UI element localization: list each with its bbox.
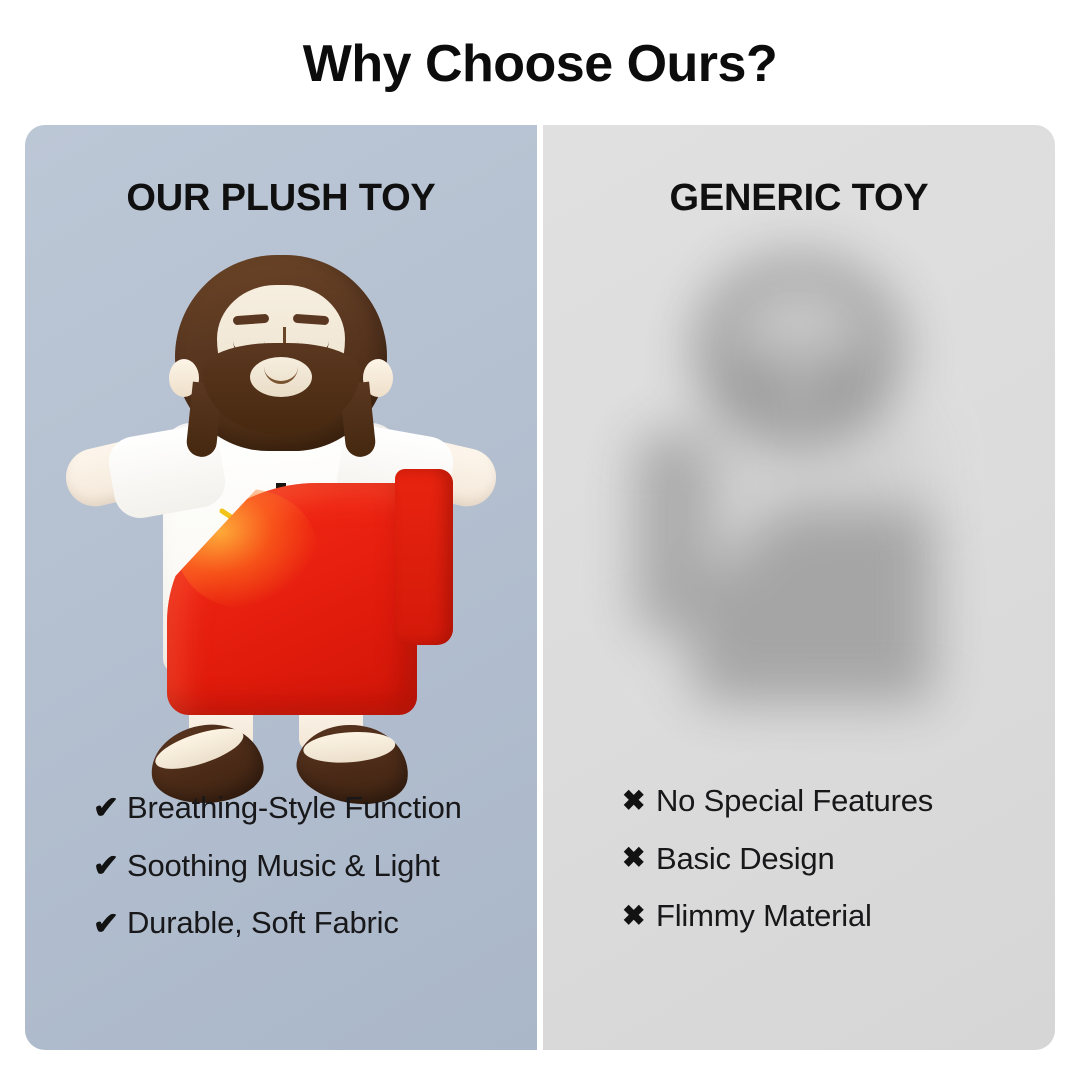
page-title: Why Choose Ours? [0,38,1080,90]
list-item: ✔ Breathing-Style Function [93,790,537,826]
list-item: ✖ No Special Features [622,783,1055,819]
blurred-generic-toy-image [634,255,964,755]
cross-icon: ✖ [622,902,656,930]
check-icon: ✔ [93,850,127,881]
comparison-panels: OUR PLUSH TOY [25,125,1055,1050]
toy-sash-tail [395,469,453,645]
plush-jesus-toy-image [71,255,491,795]
toy-eyebrow-right [293,314,330,325]
toy-smile [264,367,298,384]
feature-label: Soothing Music & Light [127,848,440,884]
blur-mouth [771,373,827,405]
toy-eyebrow-left [233,314,270,325]
check-icon: ✔ [93,908,127,939]
feature-list-generic: ✖ No Special Features ✖ Basic Design ✖ F… [543,783,1055,956]
feature-label: Basic Design [656,841,835,877]
cross-icon: ✖ [622,844,656,872]
list-item: ✖ Basic Design [622,841,1055,877]
list-item: ✖ Flimmy Material [622,898,1055,934]
feature-label: Breathing-Style Function [127,790,462,826]
toy-mouth [250,357,312,397]
list-item: ✔ Durable, Soft Fabric [93,905,537,941]
feature-label: Durable, Soft Fabric [127,905,399,941]
feature-list-ours: ✔ Breathing-Style Function ✔ Soothing Mu… [25,790,537,963]
panel-heading-generic: GENERIC TOY [543,177,1055,220]
comparison-poster: Why Choose Ours? OUR PLUSH TOY [0,0,1080,1080]
feature-label: Flimmy Material [656,898,872,934]
panel-our-plush-toy: OUR PLUSH TOY [25,125,537,1050]
cross-icon: ✖ [622,787,656,815]
panel-generic-toy: GENERIC TOY ✖ No Special Features [543,125,1055,1050]
product-stage-ours [25,245,537,805]
product-stage-generic [543,245,1055,805]
list-item: ✔ Soothing Music & Light [93,848,537,884]
feature-label: No Special Features [656,783,933,819]
toy-head [175,255,387,451]
panel-heading-ours: OUR PLUSH TOY [25,177,537,220]
check-icon: ✔ [93,792,127,823]
